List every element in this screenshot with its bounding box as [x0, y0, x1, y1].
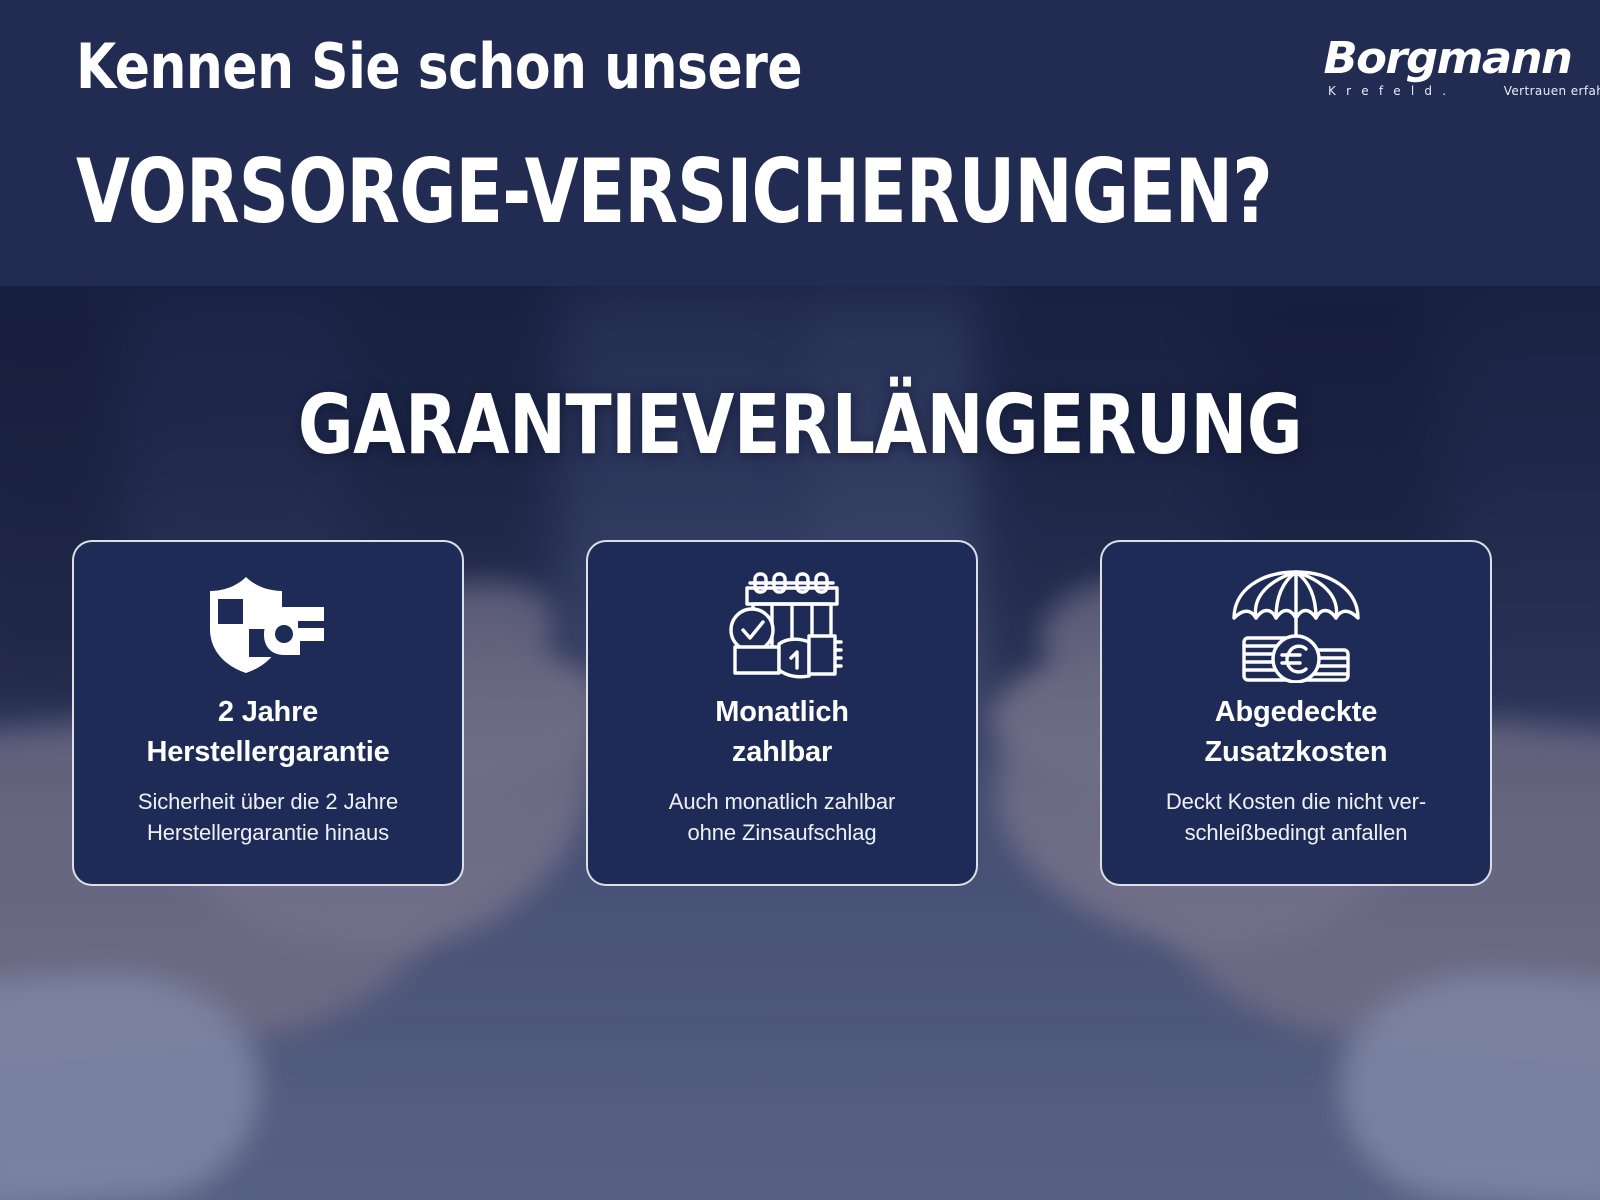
headline-line-1: Kennen Sie schon unsere [76, 30, 802, 103]
shield-car-icon [198, 566, 338, 684]
card-title: Monatlich zahlbar [715, 692, 849, 772]
card-description: Deckt Kosten die nicht ver- schleißbedin… [1166, 786, 1426, 848]
card-title: 2 Jahre Herstellergarantie [146, 692, 389, 772]
feature-card-extra-costs[interactable]: Abgedeckte Zusatzkosten Deckt Kosten die… [1100, 540, 1492, 886]
borgmann-logo: Borgmann K r e f e l d . Vertrauen erfah… [1328, 36, 1556, 108]
card-title: Abgedeckte Zusatzkosten [1205, 692, 1388, 772]
feature-card-warranty[interactable]: 2 Jahre Herstellergarantie Sicherheit üb… [72, 540, 464, 886]
header-band: Kennen Sie schon unsere VORSORGE-VERSICH… [0, 0, 1600, 286]
headline-line-2: VORSORGE-VERSICHERUNGEN? [76, 140, 1272, 243]
logo-wordmark: Borgmann [1323, 36, 1556, 82]
card-description: Sicherheit über die 2 Jahre Herstellerga… [138, 786, 398, 848]
umbrella-euro-coins-icon [1226, 566, 1366, 684]
page-title: GARANTIEVERLÄNGERUNG [64, 378, 1536, 473]
feature-cards: 2 Jahre Herstellergarantie Sicherheit üb… [0, 540, 1600, 886]
feature-card-monthly-payment[interactable]: Monatlich zahlbar Auch monatlich zahlbar… [586, 540, 978, 886]
logo-tagline: K r e f e l d . Vertrauen erfahren. [1328, 84, 1556, 98]
logo-tagline-right: Vertrauen erfahren. [1504, 84, 1600, 98]
advertisement-banner: Kennen Sie schon unsere VORSORGE-VERSICH… [0, 0, 1600, 1200]
logo-tagline-left: K r e f e l d . [1328, 84, 1449, 98]
calendar-check-money-icon [717, 566, 847, 684]
card-description: Auch monatlich zahlbar ohne Zinsaufschla… [669, 786, 895, 848]
